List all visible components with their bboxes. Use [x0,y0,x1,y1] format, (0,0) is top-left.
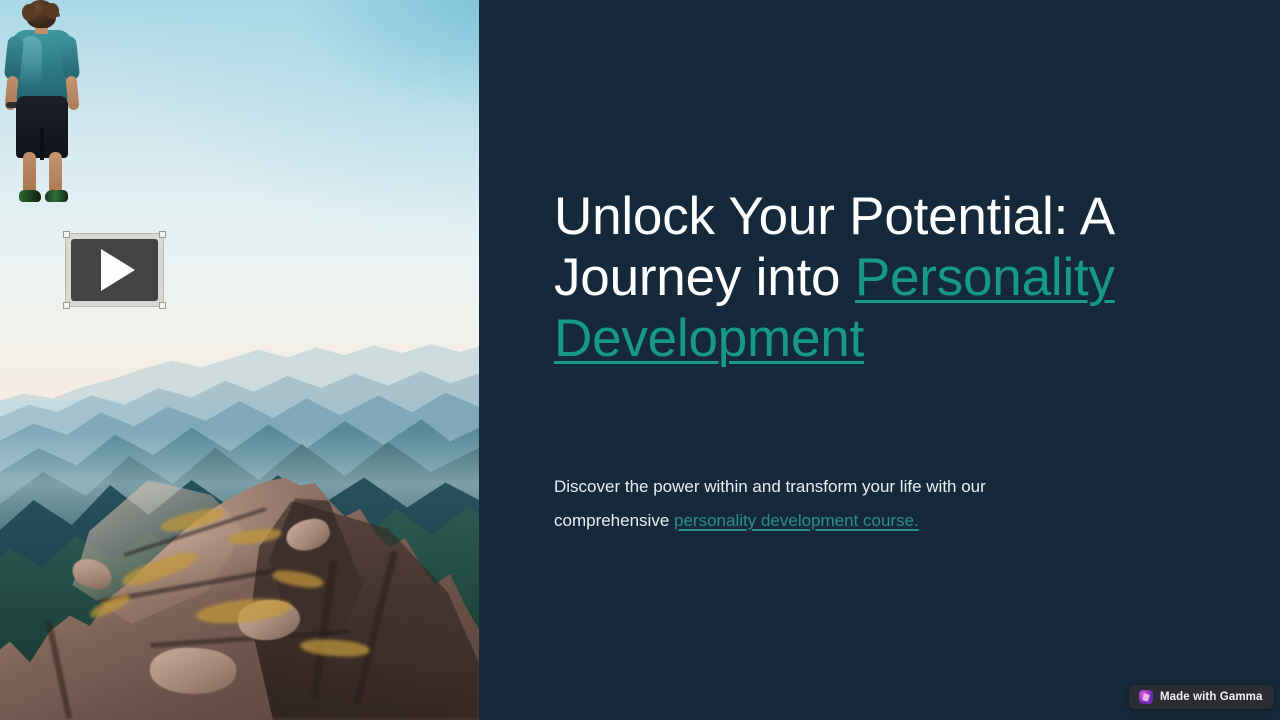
hair-curl-right [45,3,59,19]
gamma-logo-icon [1139,690,1153,704]
made-with-gamma-badge[interactable]: Made with Gamma [1129,685,1274,709]
resize-handle-top-left[interactable] [63,231,70,238]
content-panel: Unlock Your Potential: A Journey into Pe… [479,0,1280,720]
video-play-placeholder[interactable] [65,233,164,307]
leg-left [23,152,36,194]
resize-handle-bottom-right[interactable] [159,302,166,309]
leg-right [49,152,62,194]
subtitle-text: Discover the power within and transform … [554,470,1094,538]
video-thumbnail-frame [71,239,158,301]
slide-canvas: Unlock Your Potential: A Journey into Pe… [0,0,1280,720]
shoe-left [19,190,41,202]
gamma-badge-label: Made with Gamma [1160,691,1262,703]
hero-photo [0,0,479,720]
resize-handle-top-right[interactable] [159,231,166,238]
play-triangle-icon [101,249,135,291]
shorts-inseam [40,128,44,160]
shoe-right [45,190,68,202]
subtitle-link-personality-development-course[interactable]: personality development course. [674,511,919,530]
hair-curl-left [22,4,36,21]
resize-handle-bottom-left[interactable] [63,302,70,309]
page-title: Unlock Your Potential: A Journey into Pe… [554,186,1154,369]
